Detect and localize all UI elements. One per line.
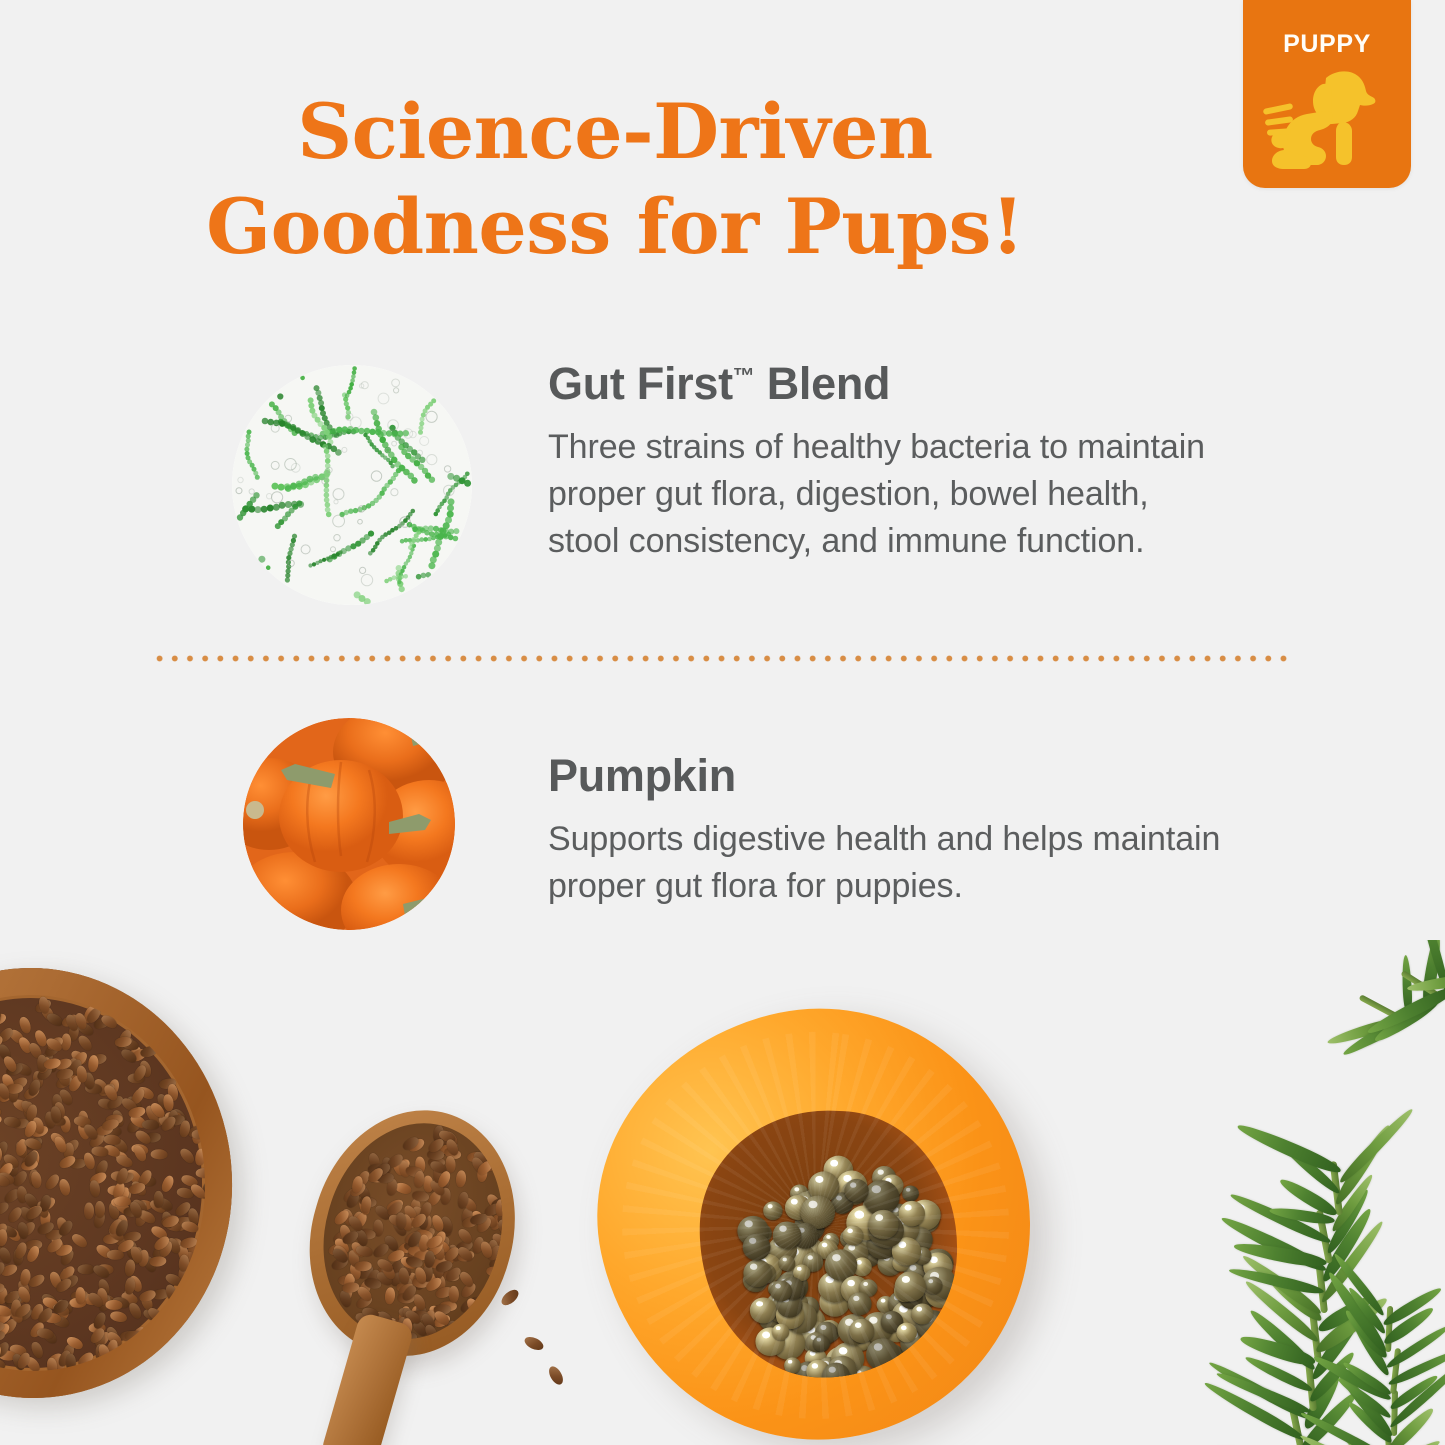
pumpkins-photo <box>243 718 455 930</box>
bowl-rim <box>0 958 243 1408</box>
feature-thumbnail-gut-first <box>232 365 472 605</box>
ingredient-photo-scene <box>0 940 1445 1445</box>
feature-text-pumpkin: Pumpkin Supports digestive health and he… <box>548 750 1228 910</box>
feature-text-gut-first: Gut First™ Blend Three strains of health… <box>548 358 1228 565</box>
spoon-bowl <box>283 1086 544 1380</box>
rosemary-sprigs-photo <box>1150 940 1445 1445</box>
rosemary-leaf <box>1336 1106 1415 1186</box>
bacteria-microscope-photo <box>232 365 472 605</box>
infographic-page: PUPPY <box>0 0 1445 1445</box>
feature-title-gut-first: Gut First™ Blend <box>548 358 1228 410</box>
rosemary-leaf <box>1228 1265 1325 1297</box>
spoon-seed-fill <box>300 1102 527 1360</box>
page-title: Science-Driven Goodness for Pups! <box>0 84 1230 274</box>
rosemary-stem <box>1391 1390 1398 1436</box>
sitting-puppy-icon <box>1263 66 1391 172</box>
feature-thumbnail-pumpkin <box>243 718 455 930</box>
feature-title-rest: Blend <box>755 358 891 409</box>
papaya-flesh <box>560 970 1070 1445</box>
stray-seed <box>546 1364 566 1387</box>
feature-description-gut-first: Three strains of healthy bacteria to mai… <box>548 424 1228 565</box>
dotted-divider <box>152 655 1292 662</box>
feature-title-main: Gut First <box>548 358 733 409</box>
spoon-handle <box>320 1311 415 1445</box>
puppy-badge: PUPPY <box>1243 0 1411 188</box>
feature-title-pumpkin: Pumpkin <box>548 750 1228 802</box>
stray-seed <box>523 1334 546 1352</box>
feature-title-main: Pumpkin <box>548 750 736 801</box>
feature-description-pumpkin: Supports digestive health and helps main… <box>548 816 1228 910</box>
flaxseed-spoon-photo <box>257 1086 551 1445</box>
papaya-seed-cavity <box>694 1107 961 1382</box>
rosemary-leaf <box>1235 1121 1343 1178</box>
headline-line-1: Science-Driven <box>0 84 1230 179</box>
puppy-badge-label: PUPPY <box>1243 30 1411 59</box>
papaya-half-photo <box>560 970 1070 1445</box>
trademark-symbol: ™ <box>733 363 755 388</box>
flaxseed-bowl-photo <box>0 958 243 1408</box>
headline-line-2: Goodness for Pups! <box>0 179 1230 274</box>
